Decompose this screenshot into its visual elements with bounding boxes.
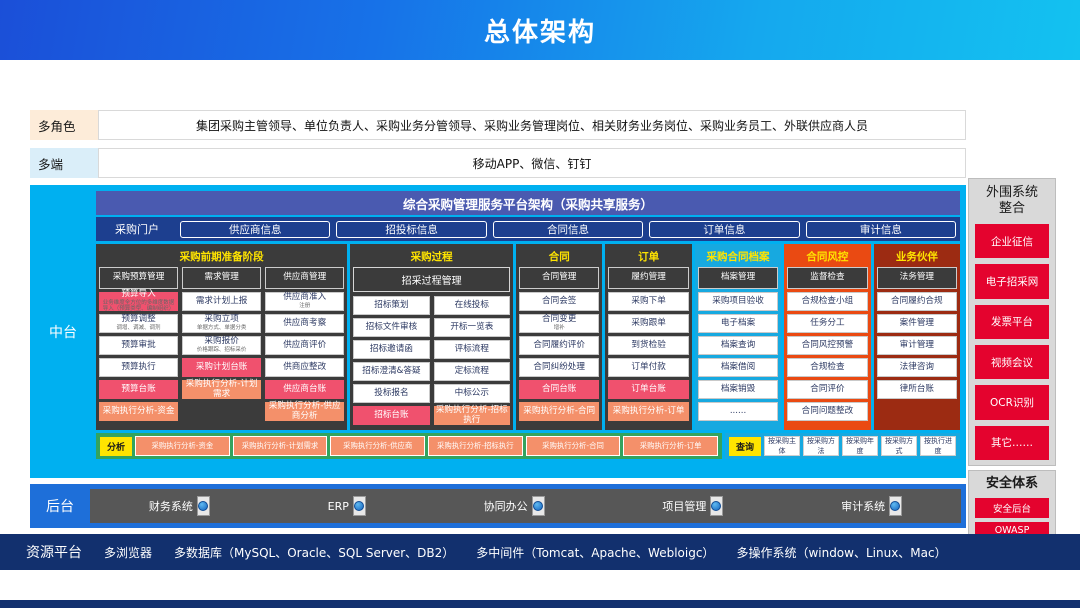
module-label: 供商应整改 [283, 363, 326, 373]
module-label: 供应商准入 [283, 293, 326, 303]
multi-role-value: 集团采购主管领导、单位负责人、采购业务分管领导、采购业务管理岗位、相关财务业务岗… [98, 110, 966, 140]
analysis-item[interactable]: 采购执行分析-计划需求 [233, 436, 328, 456]
panel-2: 合同合同管理合同会签合同变更增补合同履约评价合同纠纷处理合同台账采购执行分析-合… [516, 244, 602, 430]
resource-item-database: 多数据库（MySQL、Oracle、SQL Server、DB2） [174, 544, 454, 561]
module-cell[interactable]: 预算调整调增、调减、调剂 [99, 314, 178, 333]
query-item[interactable]: 按执行进度 [920, 436, 956, 456]
module-cell[interactable]: 招标策划 [353, 296, 429, 315]
module-cell[interactable]: 招标文件审核 [353, 318, 429, 337]
module-cell[interactable]: 供应商准入注册 [265, 292, 344, 311]
module-cell[interactable]: 电子档案 [698, 314, 778, 333]
module-label: 招标澄清&答疑 [362, 367, 420, 377]
panel-head: 采购过程 [353, 247, 510, 267]
module-cell[interactable]: 合同台账 [519, 380, 599, 399]
panel-head: 合同风控 [787, 247, 867, 267]
panel-column: 监督检查合规检查小组任务分工合同风控预警合规检查合同评价合同问题整改 [787, 267, 867, 427]
panel-columns: 合同管理合同会签合同变更增补合同履约评价合同纠纷处理合同台账采购执行分析-合同 [519, 267, 599, 427]
backend-system[interactable]: 项目管理 [662, 496, 723, 516]
panel-head: 业务伙伴 [877, 247, 957, 267]
module-label: 采购执行分析-计划需求 [184, 380, 259, 400]
panel-columns: 履约管理采购下单采购跟单到货检验订单付款订单台账采购执行分析-订单 [608, 267, 688, 427]
panel-column: 履约管理采购下单采购跟单到货检验订单付款订单台账采购执行分析-订单 [608, 267, 688, 427]
module-cell[interactable]: 档案查询 [698, 336, 778, 355]
panel-1: 采购过程招采过程管理招标策划招标文件审核招标邀请函招标澄清&答疑投标报名招标台账… [350, 244, 513, 430]
module-cell[interactable]: 合规检查小组 [787, 292, 867, 311]
backend-system[interactable]: 审计系统 [841, 496, 902, 516]
module-cell[interactable]: 合同变更增补 [519, 314, 599, 333]
analysis-item[interactable]: 采购执行分析-招标执行 [428, 436, 523, 456]
module-label: 需求计划上报 [196, 297, 248, 307]
module-cell[interactable]: 订单付款 [608, 358, 688, 377]
panel-columns: 法务管理合同履约合规案件管理审计管理法律咨询律所台账 [877, 267, 957, 427]
query-tag: 查询 [729, 437, 761, 456]
panel-columns: 监督检查合规检查小组任务分工合同风控预警合规检查合同评价合同问题整改 [787, 267, 867, 427]
module-label: 合同变更 [542, 315, 576, 325]
backend-system[interactable]: 财务系统 [149, 496, 210, 516]
module-label: 供应商考察 [283, 319, 326, 329]
panel-6: 业务伙伴法务管理合同履约合规案件管理审计管理法律咨询律所台账 [874, 244, 960, 430]
resource-platform-row: 资源平台 多浏览器 多数据库（MySQL、Oracle、SQL Server、D… [0, 534, 1080, 570]
module-label: 采购执行分析-供应商分析 [267, 402, 342, 422]
external-systems-title: 外围系统 整合 [975, 184, 1049, 218]
analysis-item[interactable]: 采购执行分析-资金 [135, 436, 230, 456]
module-label: 招标策划 [374, 301, 408, 311]
panel-5: 合同风控监督检查合规检查小组任务分工合同风控预警合规检查合同评价合同问题整改 [784, 244, 870, 430]
panel-0: 采购前期准备阶段采购预算管理预算导入业务维度全方位的多维度数据导入（预算类型、编… [96, 244, 347, 430]
module-cell[interactable]: 采购下单 [608, 292, 688, 311]
module-cell[interactable]: ...... [698, 402, 778, 421]
portal-tab-contract[interactable]: 合同信息 [493, 221, 643, 238]
module-label: 在线投标 [455, 301, 489, 311]
ext-item-other[interactable]: 其它…… [975, 426, 1049, 460]
module-label: 预算导入 [121, 290, 155, 300]
portal-tab-audit[interactable]: 审计信息 [806, 221, 956, 238]
module-cell[interactable]: 招标澄清&答疑 [353, 362, 429, 381]
module-sublabel: 增补 [554, 325, 565, 331]
module-cell[interactable]: 档案借阅 [698, 358, 778, 377]
module-label: 评标流程 [455, 345, 489, 355]
module-cell[interactable]: 案件管理 [877, 314, 957, 333]
portal-label: 采购门户 [100, 221, 174, 237]
module-cell[interactable]: 合同风控预警 [787, 336, 867, 355]
module-label: 投标报名 [374, 389, 408, 399]
external-systems-title-line2: 整合 [975, 201, 1049, 217]
portal-tab-order[interactable]: 订单信息 [649, 221, 799, 238]
module-label: 采购下单 [631, 297, 665, 307]
module-label: 预算执行 [121, 363, 155, 373]
module-label: 合同评价 [810, 385, 844, 395]
security-panel: 安全体系 安全后台 OWASP [968, 470, 1056, 544]
module-cell[interactable]: 任务分工 [787, 314, 867, 333]
module-label: 采购执行分析-订单 [613, 407, 685, 417]
row-multi-role: 多角色 集团采购主管领导、单位负责人、采购业务分管领导、采购业务管理岗位、相关财… [30, 110, 966, 140]
panel-column: 合同管理合同会签合同变更增补合同履约评价合同纠纷处理合同台账采购执行分析-合同 [519, 267, 599, 427]
backend-label: 后台 [30, 496, 90, 516]
module-cell[interactable]: 开标一览表 [434, 318, 510, 337]
panel-subhead: 招采过程管理 [353, 267, 510, 292]
panel-column: 在线投标开标一览表评标流程定标流程中标公示采购执行分析-招标执行 [434, 296, 510, 427]
server-icon [197, 496, 210, 516]
panels-container: 采购前期准备阶段采购预算管理预算导入业务维度全方位的多维度数据导入（预算类型、编… [96, 244, 960, 430]
module-cell[interactable]: 合同履约评价 [519, 336, 599, 355]
module-cell[interactable]: 合同履约合规 [877, 292, 957, 311]
module-cell[interactable]: 供应商台账 [265, 380, 344, 399]
module-cell[interactable]: 预算审批 [99, 336, 178, 355]
panel-head: 合同 [519, 247, 599, 267]
footer-line [0, 600, 1080, 608]
module-cell[interactable]: 合同问题整改 [787, 402, 867, 421]
module-cell[interactable]: 到货检验 [608, 336, 688, 355]
module-cell[interactable]: 中标公示 [434, 384, 510, 403]
module-label: 合同会签 [542, 297, 576, 307]
module-label: 供应商台账 [283, 385, 326, 395]
ext-item-video[interactable]: 视频会议 [975, 345, 1049, 379]
server-icon [710, 496, 723, 516]
module-sublabel: 价格跟踪、招标采价 [197, 347, 247, 353]
server-icon [532, 496, 545, 516]
module-label: 合同问题整改 [802, 407, 854, 417]
panel-head: 订单 [608, 247, 688, 267]
module-label: 订单付款 [631, 363, 665, 373]
panel-column: 供应商管理供应商准入注册供应商考察供应商评价供商应整改供应商台账采购执行分析-供… [265, 267, 344, 427]
backend-system-label: 协同办公 [484, 498, 528, 514]
module-label: ...... [730, 407, 746, 417]
module-cell[interactable]: 订单台账 [608, 380, 688, 399]
module-label: 档案销毁 [721, 385, 755, 395]
mid-platform-label: 中台 [30, 185, 96, 478]
security-item-backend[interactable]: 安全后台 [975, 498, 1049, 518]
module-label: 预算审批 [121, 341, 155, 351]
backend-system-label: ERP [328, 500, 349, 513]
ext-item-credit[interactable]: 企业征信 [975, 224, 1049, 258]
module-cell[interactable]: 采购执行分析-订单 [608, 402, 688, 421]
architecture-page: 总体架构 多角色 集团采购主管领导、单位负责人、采购业务分管领导、采购业务管理岗… [0, 0, 1080, 608]
module-cell[interactable]: 采购计划台账 [182, 358, 261, 377]
module-cell[interactable]: 法律咨询 [877, 358, 957, 377]
module-label: 采购执行分析-合同 [523, 407, 595, 417]
query-item[interactable]: 按采购主体 [764, 436, 800, 456]
module-label: 采购执行分析-招标执行 [436, 406, 508, 426]
query-item[interactable]: 按采购年度 [842, 436, 878, 456]
module-cell[interactable]: 定标流程 [434, 362, 510, 381]
column-header: 合同管理 [519, 267, 599, 289]
mid-platform-block: 中台 综合采购管理服务平台架构（采购共享服务） 采购门户 供应商信息 招投标信息… [30, 185, 966, 478]
module-label: 审计管理 [900, 341, 934, 351]
column-header: 采购预算管理 [99, 267, 178, 289]
module-label: 招标台账 [374, 411, 408, 421]
backend-system-label: 财务系统 [149, 498, 193, 514]
module-cell[interactable]: 采购项目验收 [698, 292, 778, 311]
module-cell[interactable]: 审计管理 [877, 336, 957, 355]
module-label: 采购项目验收 [712, 297, 764, 307]
page-title: 总体架构 [484, 12, 596, 49]
column-header: 供应商管理 [265, 267, 344, 289]
backend-system-label: 项目管理 [662, 498, 706, 514]
panel-columns: 招标策划招标文件审核招标邀请函招标澄清&答疑投标报名招标台账在线投标开标一览表评… [353, 296, 510, 427]
multi-terminal-value: 移动APP、微信、钉钉 [98, 148, 966, 178]
module-label: 定标流程 [455, 367, 489, 377]
server-icon [353, 496, 366, 516]
panel-3: 订单履约管理采购下单采购跟单到货检验订单付款订单台账采购执行分析-订单 [605, 244, 691, 430]
portal-tab-bidding[interactable]: 招投标信息 [336, 221, 486, 238]
module-label: 采购跟单 [631, 319, 665, 329]
backend-systems: 财务系统ERP协同办公项目管理审计系统 [90, 489, 961, 523]
module-sublabel: 业务维度全方位的多维度数据导入（预算类型、编制组织） [101, 300, 176, 313]
module-cell[interactable]: 合同评价 [787, 380, 867, 399]
ext-item-ocr[interactable]: OCR识别 [975, 385, 1049, 419]
module-cell[interactable]: 预算执行 [99, 358, 178, 377]
resource-label: 资源平台 [26, 542, 82, 562]
module-label: 采购计划台账 [196, 363, 248, 373]
module-cell[interactable]: 招标台账 [353, 406, 429, 425]
module-cell[interactable]: 投标报名 [353, 384, 429, 403]
panel-4: 采购合同档案档案管理采购项目验收电子档案档案查询档案借阅档案销毁...... [695, 244, 781, 430]
analysis-item[interactable]: 采购执行分析-订单 [623, 436, 718, 456]
panel-columns: 采购预算管理预算导入业务维度全方位的多维度数据导入（预算类型、编制组织）预算调整… [99, 267, 344, 427]
module-cell[interactable]: 合同纠纷处理 [519, 358, 599, 377]
module-label: 订单台账 [631, 385, 665, 395]
query-item[interactable]: 按采购方法 [803, 436, 839, 456]
module-sublabel: 注册 [299, 303, 310, 309]
module-cell[interactable]: 供应商考察 [265, 314, 344, 333]
multi-terminal-label: 多端 [30, 148, 98, 178]
platform-title: 综合采购管理服务平台架构（采购共享服务） [96, 191, 960, 215]
portal-tab-supplier[interactable]: 供应商信息 [180, 221, 330, 238]
module-label: 档案借阅 [721, 363, 755, 373]
module-cell[interactable]: 合规检查 [787, 358, 867, 377]
mid-platform-inner: 综合采购管理服务平台架构（采购共享服务） 采购门户 供应商信息 招投标信息 合同… [96, 191, 960, 472]
panel-columns: 档案管理采购项目验收电子档案档案查询档案借阅档案销毁...... [698, 267, 778, 427]
module-label: 供应商评价 [283, 341, 326, 351]
server-icon [889, 496, 902, 516]
module-label: 采购执行分析-资金 [103, 407, 175, 417]
module-label: 任务分工 [810, 319, 844, 329]
backend-row: 后台 财务系统ERP协同办公项目管理审计系统 [30, 484, 966, 528]
module-cell[interactable]: 采购执行分析-供应商分析 [265, 402, 344, 421]
module-cell[interactable]: 律所台账 [877, 380, 957, 399]
module-cell[interactable]: 供应商评价 [265, 336, 344, 355]
module-label: 预算台账 [121, 385, 155, 395]
module-label: 合同履约合规 [891, 297, 943, 307]
row-multi-terminal: 多端 移动APP、微信、钉钉 [30, 148, 966, 178]
module-cell[interactable]: 采购报价价格跟踪、招标采价 [182, 336, 261, 355]
module-label: 采购报价 [204, 337, 238, 347]
module-label: 到货检验 [631, 341, 665, 351]
query-strip: 查询 按采购主体按采购方法按采购年度按采购方式按执行进度 [725, 433, 960, 459]
module-cell[interactable]: 预算导入业务维度全方位的多维度数据导入（预算类型、编制组织） [99, 292, 178, 311]
panel-head: 采购合同档案 [698, 247, 778, 267]
panel-column: 采购预算管理预算导入业务维度全方位的多维度数据导入（预算类型、编制组织）预算调整… [99, 267, 178, 427]
backend-system[interactable]: ERP [328, 496, 366, 516]
module-label: 预算调整 [121, 315, 155, 325]
module-cell[interactable]: 需求计划上报 [182, 292, 261, 311]
module-cell[interactable]: 采购执行分析-资金 [99, 402, 178, 421]
panel-column: 档案管理采购项目验收电子档案档案查询档案借阅档案销毁...... [698, 267, 778, 427]
external-systems-panel: 外围系统 整合 企业征信 电子招采网 发票平台 视频会议 OCR识别 其它…… [968, 178, 1056, 466]
page-header: 总体架构 [0, 0, 1080, 60]
multi-role-label: 多角色 [30, 110, 98, 140]
module-label: 合同纠纷处理 [533, 363, 585, 373]
panel-head: 采购前期准备阶段 [99, 247, 344, 267]
panel-column: 需求管理需求计划上报采购立项单据方式、单据分类采购报价价格跟踪、招标采价采购计划… [182, 267, 261, 427]
external-systems-title-line1: 外围系统 [975, 185, 1049, 201]
security-title: 安全体系 [975, 475, 1049, 494]
column-header: 法务管理 [877, 267, 957, 289]
resource-item-middleware: 多中间件（Tomcat、Apache、Webloigc） [476, 544, 714, 561]
module-label: 采购立项 [204, 315, 238, 325]
analysis-tag: 分析 [100, 437, 132, 456]
module-label: 档案查询 [721, 341, 755, 351]
module-label: 开标一览表 [450, 323, 493, 333]
module-label: 合同风控预警 [802, 341, 854, 351]
panel-column: 法务管理合同履约合规案件管理审计管理法律咨询律所台账 [877, 267, 957, 427]
module-label: 中标公示 [455, 389, 489, 399]
backend-system[interactable]: 协同办公 [484, 496, 545, 516]
module-label: 电子档案 [721, 319, 755, 329]
analysis-query-strip: 分析 采购执行分析-资金采购执行分析-计划需求采购执行分析-供应商采购执行分析-… [96, 433, 960, 459]
backend-system-label: 审计系统 [841, 498, 885, 514]
module-label: 律所台账 [900, 385, 934, 395]
module-cell[interactable]: 采购跟单 [608, 314, 688, 333]
module-cell[interactable]: 评标流程 [434, 340, 510, 359]
module-cell[interactable]: 合同会签 [519, 292, 599, 311]
module-sublabel: 单据方式、单据分类 [197, 325, 247, 331]
module-label: 招标邀请函 [370, 345, 413, 355]
analysis-item[interactable]: 采购执行分析-供应商 [330, 436, 425, 456]
module-cell[interactable]: 招标邀请函 [353, 340, 429, 359]
panel-column: 招标策划招标文件审核招标邀请函招标澄清&答疑投标报名招标台账 [353, 296, 429, 427]
module-label: 合规检查小组 [802, 297, 854, 307]
module-label: 合规检查 [810, 363, 844, 373]
module-label: 案件管理 [900, 319, 934, 329]
ext-item-invoice[interactable]: 发票平台 [975, 305, 1049, 339]
analysis-strip: 分析 采购执行分析-资金采购执行分析-计划需求采购执行分析-供应商采购执行分析-… [96, 433, 722, 459]
module-label: 法律咨询 [900, 363, 934, 373]
module-cell[interactable]: 采购立项单据方式、单据分类 [182, 314, 261, 333]
module-label: 合同台账 [542, 385, 576, 395]
module-sublabel: 调增、调减、调剂 [117, 325, 161, 331]
resource-item-os: 多操作系统（window、Linux、Mac） [736, 544, 946, 561]
module-label: 合同履约评价 [533, 341, 585, 351]
module-cell[interactable]: 预算台账 [99, 380, 178, 399]
ext-item-ebid[interactable]: 电子招采网 [975, 264, 1049, 298]
column-header: 履约管理 [608, 267, 688, 289]
module-cell[interactable]: 采购执行分析-计划需求 [182, 380, 261, 399]
module-label: 招标文件审核 [366, 323, 418, 333]
module-cell[interactable]: 供商应整改 [265, 358, 344, 377]
module-cell[interactable]: 采购执行分析-合同 [519, 402, 599, 421]
analysis-item[interactable]: 采购执行分析-合同 [526, 436, 621, 456]
column-header: 档案管理 [698, 267, 778, 289]
portal-row: 采购门户 供应商信息 招投标信息 合同信息 订单信息 审计信息 [96, 217, 960, 241]
column-header: 需求管理 [182, 267, 261, 289]
module-cell[interactable]: 在线投标 [434, 296, 510, 315]
module-cell[interactable]: 档案销毁 [698, 380, 778, 399]
resource-item-browser: 多浏览器 [104, 544, 152, 561]
query-item[interactable]: 按采购方式 [881, 436, 917, 456]
module-cell[interactable]: 采购执行分析-招标执行 [434, 406, 510, 425]
column-header: 监督检查 [787, 267, 867, 289]
